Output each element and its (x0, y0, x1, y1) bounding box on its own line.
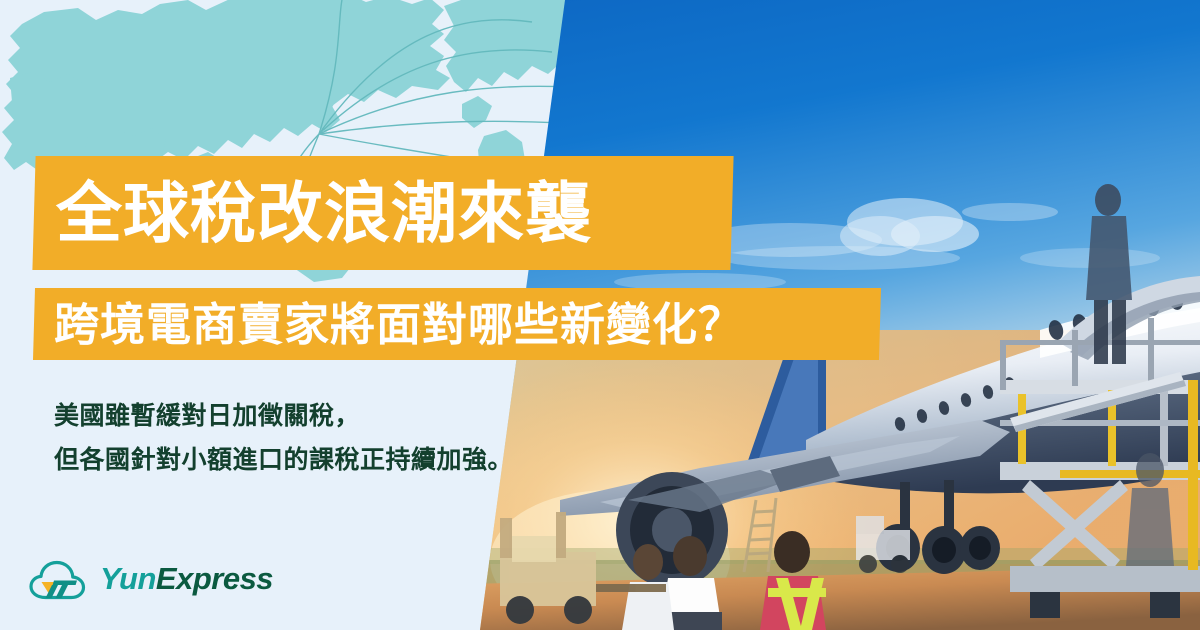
cloud-logo-icon (28, 556, 90, 602)
headline-bar-primary: 全球稅改浪潮來襲 (32, 156, 733, 270)
subtitle-line-2: 但各國針對小額進口的課稅正持續加強。 (54, 438, 513, 482)
headline-bar-secondary: 跨境電商賣家將面對哪些新變化？ (33, 288, 881, 360)
brand-wordmark-yun: Yun (100, 561, 156, 596)
brand-wordmark-express: Express (156, 561, 273, 596)
brand-logo: YunExpress (28, 556, 273, 602)
headline-line-1: 全球稅改浪潮來襲 (56, 180, 592, 246)
marketing-banner: 全球稅改浪潮來襲 跨境電商賣家將面對哪些新變化？ 美國雖暫緩對日加徵關稅， 但各… (0, 0, 1200, 630)
brand-wordmark: YunExpress (100, 561, 273, 597)
headline-line-2: 跨境電商賣家將面對哪些新變化？ (54, 302, 744, 347)
subtitle-block: 美國雖暫緩對日加徵關稅， 但各國針對小額進口的課稅正持續加強。 (54, 394, 513, 482)
subtitle-line-1: 美國雖暫緩對日加徵關稅， (54, 394, 513, 438)
